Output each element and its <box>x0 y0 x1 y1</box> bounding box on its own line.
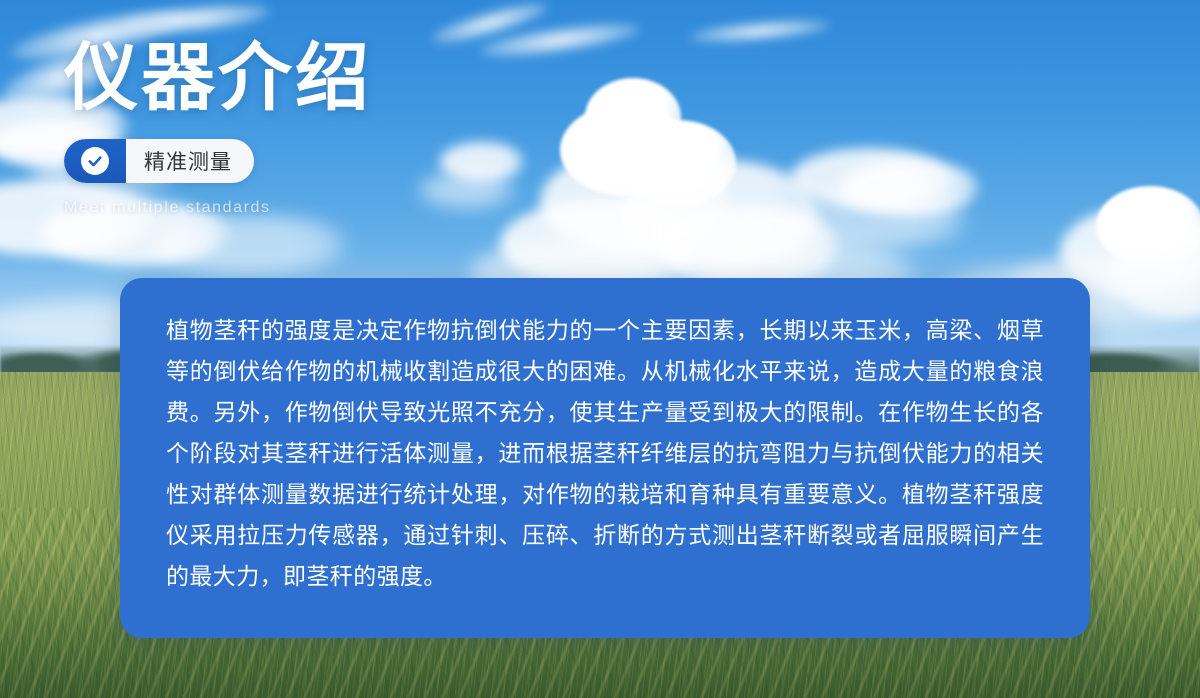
header: 仪器介绍 精准测量 Meet multiple standards <box>64 42 624 217</box>
badge-label: 精准测量 <box>126 139 254 183</box>
promo-banner: 仪器介绍 精准测量 Meet multiple standards 植物茎秆的强… <box>0 0 1200 698</box>
badge-icon-area <box>64 139 126 183</box>
check-circle-icon <box>81 147 109 175</box>
description-card: 植物茎秆的强度是决定作物抗倒伏能力的一个主要因素，长期以来玉米，高梁、烟草等的倒… <box>120 278 1090 638</box>
subtitle-en: Meet multiple standards <box>64 199 624 217</box>
description-paragraph: 植物茎秆的强度是决定作物抗倒伏能力的一个主要因素，长期以来玉米，高梁、烟草等的倒… <box>166 310 1044 597</box>
precision-badge[interactable]: 精准测量 <box>64 139 254 183</box>
page-title: 仪器介绍 <box>64 42 624 117</box>
cloud <box>780 192 970 248</box>
